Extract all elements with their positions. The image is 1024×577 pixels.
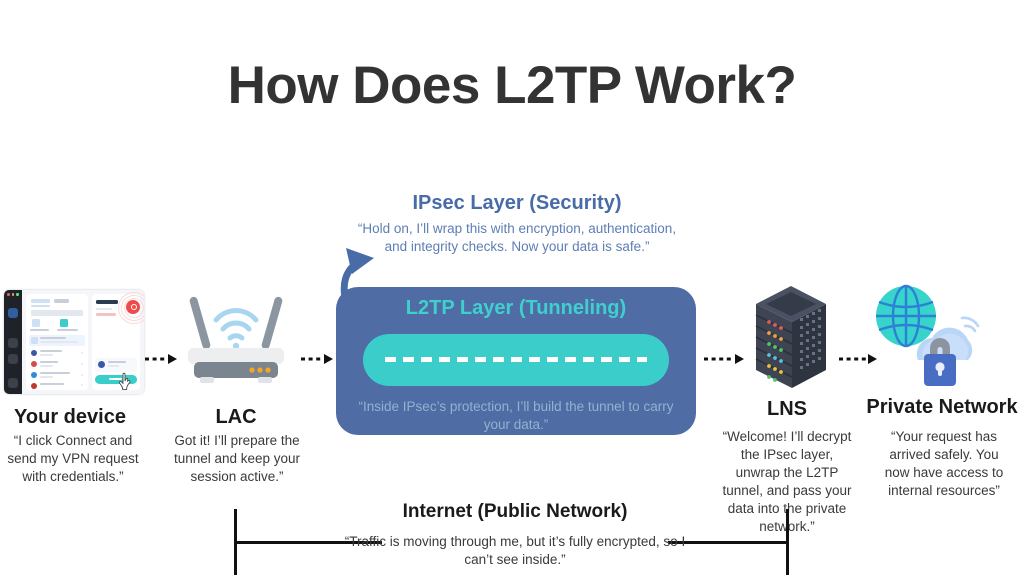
- dashed-arrow-right-icon: [703, 352, 745, 368]
- node-caption-private-network: “Your request has arrived safely. You no…: [880, 428, 1008, 500]
- app-content-area: [22, 290, 144, 394]
- internet-caption: “Traffic is moving through me, but it’s …: [330, 533, 700, 569]
- power-button-icon: [126, 300, 140, 314]
- wifi-router-icon: [180, 288, 292, 388]
- app-sidebar-rail: [4, 290, 22, 394]
- ipsec-layer-title: IPsec Layer (Security): [332, 192, 702, 215]
- node-label-private-network: Private Network: [860, 396, 1024, 419]
- app-status-panel: [92, 294, 140, 390]
- page-title: How Does L2TP Work?: [0, 58, 1024, 114]
- node-label-lns: LNS: [724, 398, 850, 421]
- node-caption-lac: Got it! I’ll prepare the tunnel and keep…: [163, 432, 311, 486]
- node-label-lac: LAC: [170, 406, 302, 429]
- app-locations-panel: [26, 294, 88, 390]
- dashed-arrow-right-icon: [144, 352, 178, 368]
- vpn-app-window-icon: [4, 290, 144, 394]
- dashed-tunnel-icon: [363, 334, 669, 386]
- diagram-canvas: How Does L2TP Work? IPsec Layer (Securit…: [0, 0, 1024, 577]
- server-rack-icon: [752, 278, 830, 394]
- ipsec-layer-caption: “Hold on, I’ll wrap this with encryption…: [352, 220, 682, 256]
- node-label-your-device: Your device: [0, 406, 140, 429]
- l2tp-layer-caption: “Inside IPsec’s protection, I’ll build t…: [356, 398, 676, 434]
- globe-cloud-lock-icon: [864, 282, 982, 390]
- l2tp-layer-title: L2TP Layer (Tunneling): [336, 297, 696, 320]
- dashed-arrow-right-icon: [300, 352, 334, 368]
- hand-cursor-icon: [118, 372, 134, 392]
- node-caption-your-device: “I click Connect and send my VPN request…: [0, 432, 146, 486]
- internet-title: Internet (Public Network): [330, 501, 700, 523]
